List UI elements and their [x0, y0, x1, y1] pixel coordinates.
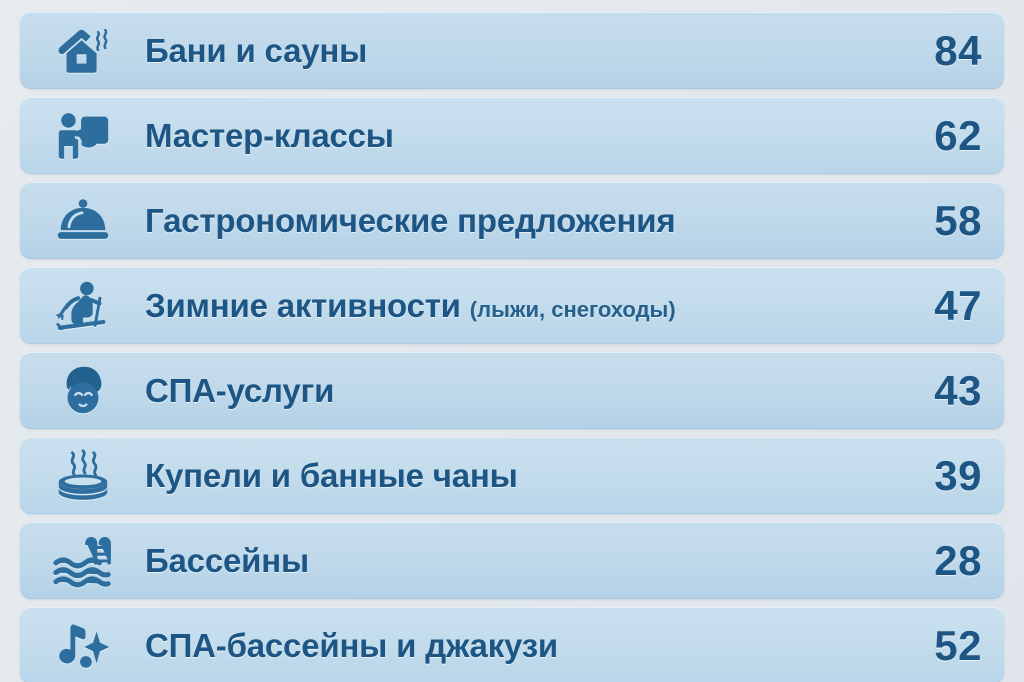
list-item-value: 43	[854, 367, 1004, 415]
list-item-label-group: СПА-услуги	[145, 372, 854, 410]
list-item-label-group: Зимние активности (лыжи, снегоходы)	[145, 287, 854, 325]
list-item-label-group: Купели и банные чаны	[145, 457, 854, 495]
list-item-value: 52	[854, 622, 1004, 670]
list-item-value: 39	[854, 452, 1004, 500]
list-item-value: 84	[854, 27, 1004, 75]
skier-icon	[20, 267, 145, 344]
hot-tub-icon	[20, 437, 145, 514]
list-item-label-group: Бани и сауны	[145, 32, 854, 70]
category-list-chart: Бани и сауны 84 Мастер-классы 62	[0, 0, 1024, 682]
list-item-label: СПА-услуги	[145, 372, 334, 410]
list-item-value: 28	[854, 537, 1004, 585]
list-item-label-group: Гастрономические предложения	[145, 202, 854, 240]
list-item-label: Мастер-классы	[145, 117, 394, 155]
list-item[interactable]: Зимние активности (лыжи, снегоходы) 47	[20, 267, 1004, 344]
sauna-house-icon	[20, 12, 145, 89]
food-cloche-icon	[20, 182, 145, 259]
list-item[interactable]: Купели и банные чаны 39	[20, 437, 1004, 514]
list-item-label: Купели и банные чаны	[145, 457, 518, 495]
list-item-value: 62	[854, 112, 1004, 160]
list-item[interactable]: Бассейны 28	[20, 522, 1004, 599]
list-item-label: Бассейны	[145, 542, 309, 580]
list-item[interactable]: Мастер-классы 62	[20, 97, 1004, 174]
spa-face-mask-icon	[20, 352, 145, 429]
masterclass-presenter-icon	[20, 97, 145, 174]
list-item[interactable]: Бани и сауны 84	[20, 12, 1004, 89]
list-item-value: 47	[854, 282, 1004, 330]
list-item-sublabel: (лыжи, снегоходы)	[470, 297, 676, 323]
list-item-label: Бани и сауны	[145, 32, 367, 70]
music-sparkle-icon	[20, 607, 145, 682]
list-item-label: СПА-бассейны и джакузи	[145, 627, 558, 665]
list-item-label: Зимние активности	[145, 287, 461, 325]
list-item[interactable]: СПА-бассейны и джакузи 52	[20, 607, 1004, 682]
list-item-label-group: СПА-бассейны и джакузи	[145, 627, 854, 665]
swimming-pool-icon	[20, 522, 145, 599]
list-item-value: 58	[854, 197, 1004, 245]
list-item[interactable]: Гастрономические предложения 58	[20, 182, 1004, 259]
list-item[interactable]: СПА-услуги 43	[20, 352, 1004, 429]
list-item-label: Гастрономические предложения	[145, 202, 675, 240]
list-item-label-group: Мастер-классы	[145, 117, 854, 155]
list-item-label-group: Бассейны	[145, 542, 854, 580]
